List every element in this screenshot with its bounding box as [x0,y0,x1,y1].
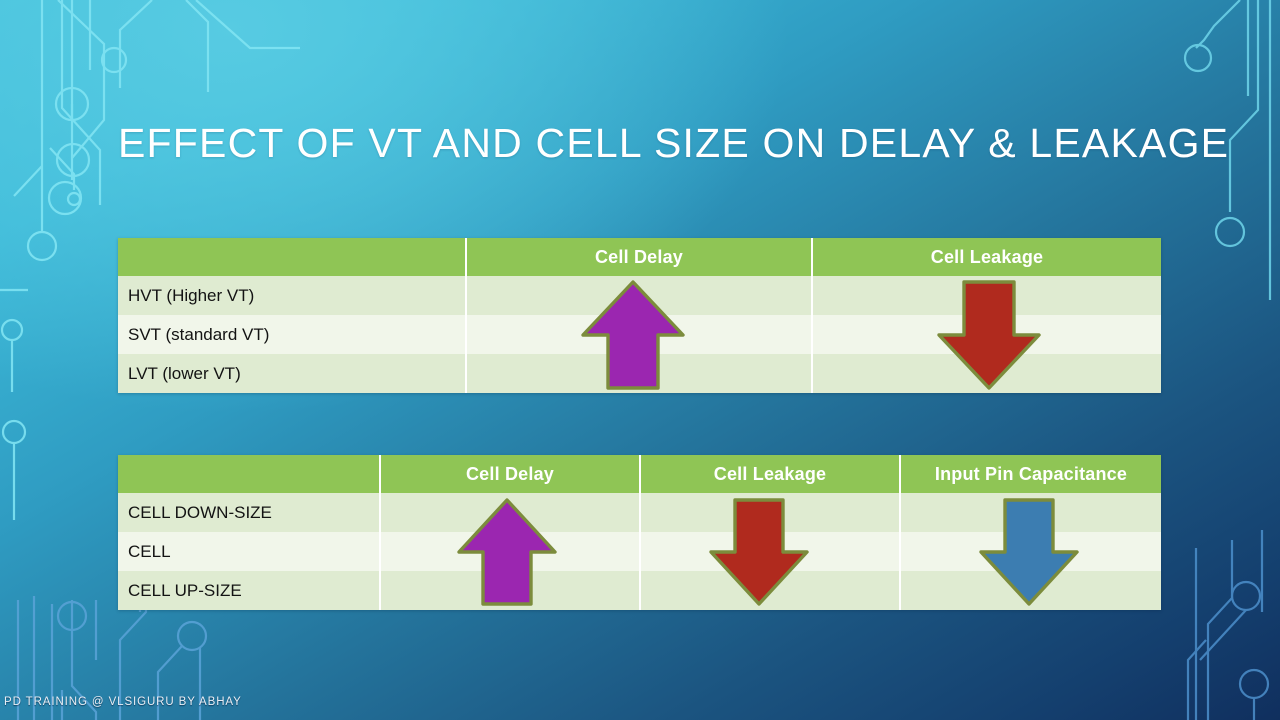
table2-cell-leakage-up [640,571,900,610]
table2-cell-pincap-cell [900,532,1161,571]
table2-header-cell-leakage: Cell Leakage [640,455,900,493]
table-row: HVT (Higher VT) [118,276,1161,315]
table1-header-blank [118,238,466,276]
table-header-row: Cell Delay Cell Leakage Input Pin Capaci… [118,455,1161,493]
table2-cell-pincap-up [900,571,1161,610]
table2-row-label-cell-down-size: CELL DOWN-SIZE [118,493,380,532]
table1-cell-delay-hvt [466,276,812,315]
table1-cell-delay-lvt [466,354,812,393]
table1-header-cell-leakage: Cell Leakage [812,238,1161,276]
table2-cell-leakage-down [640,493,900,532]
table2-header-cell-delay: Cell Delay [380,455,640,493]
table1-cell-leakage-lvt [812,354,1161,393]
table2-cell-delay-cell [380,532,640,571]
table1-cell-leakage-hvt [812,276,1161,315]
table1-cell-leakage-svt [812,315,1161,354]
table-row: CELL DOWN-SIZE [118,493,1161,532]
slide-canvas: EFFECT OF VT AND CELL SIZE ON DELAY & LE… [0,0,1280,720]
table2-header-input-pin-capacitance: Input Pin Capacitance [900,455,1161,493]
circuit-traces-left-mid [0,290,28,520]
table-vt-effects: Cell Delay Cell Leakage HVT (Higher VT) … [118,238,1161,393]
page-title: EFFECT OF VT AND CELL SIZE ON DELAY & LE… [118,112,1178,174]
table1-cell-delay-svt [466,315,812,354]
table2-cell-delay-up [380,571,640,610]
table1-row-label-hvt: HVT (Higher VT) [118,276,466,315]
table-row: CELL [118,532,1161,571]
table-header-row: Cell Delay Cell Leakage [118,238,1161,276]
slide-footer: PD TRAINING @ VLSIGURU BY ABHAY [4,696,242,708]
table1-row-label-svt: SVT (standard VT) [118,315,466,354]
table2-cell-pincap-down [900,493,1161,532]
table1-header-cell-delay: Cell Delay [466,238,812,276]
table2-cell-delay-down [380,493,640,532]
table1-row-label-lvt: LVT (lower VT) [118,354,466,393]
table-row: LVT (lower VT) [118,354,1161,393]
table2-row-label-cell-up-size: CELL UP-SIZE [118,571,380,610]
circuit-traces-bottom-right [1188,530,1268,720]
table2-header-blank [118,455,380,493]
table-row: SVT (standard VT) [118,315,1161,354]
table-row: CELL UP-SIZE [118,571,1161,610]
table2-row-label-cell: CELL [118,532,380,571]
table2-cell-leakage-cell [640,532,900,571]
table-cell-size-effects: Cell Delay Cell Leakage Input Pin Capaci… [118,455,1161,610]
